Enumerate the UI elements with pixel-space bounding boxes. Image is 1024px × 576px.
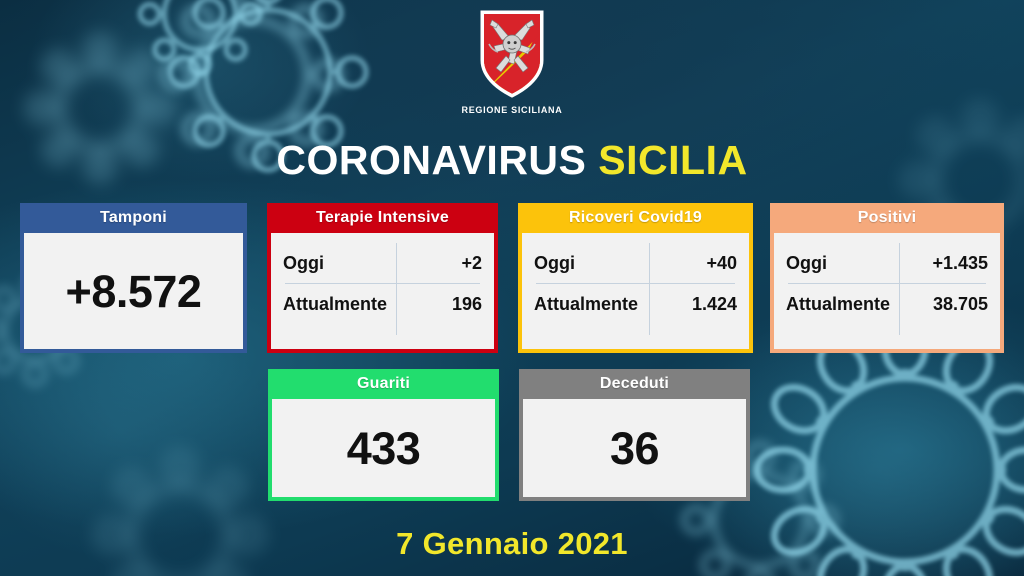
card-terapie-rows: Oggi +2 Attualmente 196 [271, 233, 494, 349]
row-oggi-label: Oggi [786, 253, 932, 274]
row-divider-vertical [899, 243, 900, 335]
row-attualmente: Attualmente 1.424 [534, 284, 737, 324]
row-oggi: Oggi +2 [283, 243, 482, 283]
card-tamponi-body: +8.572 [24, 233, 243, 349]
card-guariti-body: 433 [272, 399, 495, 497]
card-tamponi: Tamponi +8.572 [20, 203, 247, 353]
card-terapie-intensive: Terapie Intensive Oggi +2 Attualmente 19… [267, 203, 498, 353]
card-ricoveri-title: Ricoveri Covid19 [518, 203, 753, 233]
row-attualmente-value: 1.424 [692, 294, 737, 315]
stats-row-top: Tamponi +8.572 Terapie Intensive Oggi +2… [0, 203, 1024, 355]
row-oggi-label: Oggi [283, 253, 461, 274]
card-ricoveri-rows: Oggi +40 Attualmente 1.424 [522, 233, 749, 349]
page-title: CORONAVIRUS SICILIA [0, 137, 1024, 184]
row-attualmente-value: 196 [452, 294, 482, 315]
card-guariti-title: Guariti [268, 369, 499, 399]
row-attualmente-label: Attualmente [786, 294, 933, 315]
card-positivi-rows: Oggi +1.435 Attualmente 38.705 [774, 233, 1000, 349]
row-oggi-value: +1.435 [932, 253, 988, 274]
report-date: 7 Gennaio 2021 [0, 526, 1024, 562]
card-tamponi-value: +8.572 [66, 269, 202, 314]
row-oggi: Oggi +40 [534, 243, 737, 283]
card-terapie-title: Terapie Intensive [267, 203, 498, 233]
card-deceduti-value: 36 [610, 426, 659, 471]
stats-row-bottom: Guariti 433 Deceduti 36 [0, 369, 1024, 504]
row-attualmente-label: Attualmente [283, 294, 452, 315]
card-tamponi-title: Tamponi [20, 203, 247, 233]
card-deceduti: Deceduti 36 [519, 369, 750, 501]
card-deceduti-body: 36 [523, 399, 746, 497]
row-divider-vertical [649, 243, 650, 335]
title-sicilia: SICILIA [598, 137, 747, 183]
row-oggi: Oggi +1.435 [786, 243, 988, 283]
card-ricoveri-covid19: Ricoveri Covid19 Oggi +40 Attualmente 1.… [518, 203, 753, 353]
row-oggi-label: Oggi [534, 253, 706, 274]
card-positivi: Positivi Oggi +1.435 Attualmente 38.705 [770, 203, 1004, 353]
title-coronavirus: CORONAVIRUS [276, 137, 586, 183]
row-attualmente: Attualmente 38.705 [786, 284, 988, 324]
regione-siciliana-emblem-block: REGIONE SICILIANA [0, 8, 1024, 115]
card-terapie-body: Oggi +2 Attualmente 196 [271, 233, 494, 349]
card-positivi-title: Positivi [770, 203, 1004, 233]
row-attualmente-label: Attualmente [534, 294, 692, 315]
row-attualmente-value: 38.705 [933, 294, 988, 315]
card-deceduti-title: Deceduti [519, 369, 750, 399]
row-attualmente: Attualmente 196 [283, 284, 482, 324]
trinacria-shield-icon [476, 8, 548, 100]
card-guariti-value: 433 [347, 426, 421, 471]
card-guariti: Guariti 433 [268, 369, 499, 501]
card-ricoveri-body: Oggi +40 Attualmente 1.424 [522, 233, 749, 349]
card-positivi-body: Oggi +1.435 Attualmente 38.705 [774, 233, 1000, 349]
emblem-label: REGIONE SICILIANA [462, 105, 563, 115]
row-divider-vertical [396, 243, 397, 335]
row-oggi-value: +40 [706, 253, 737, 274]
row-oggi-value: +2 [461, 253, 482, 274]
